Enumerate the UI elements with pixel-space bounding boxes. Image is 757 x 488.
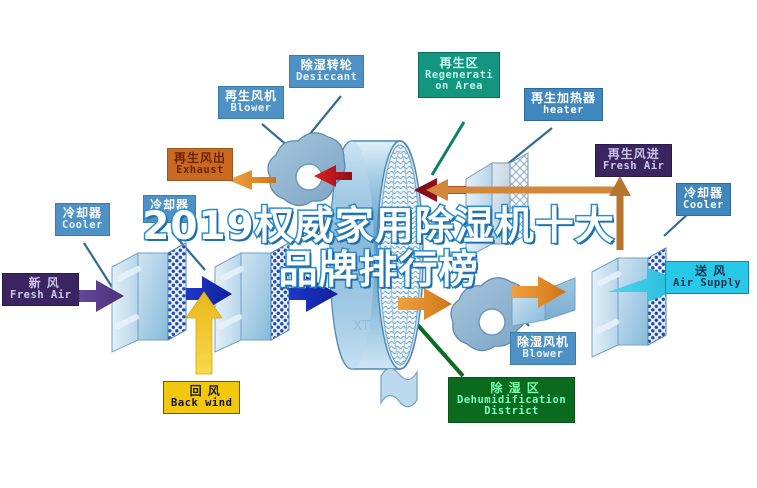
label-cooler-left-a-cn: 冷却器 <box>62 207 103 220</box>
rotor-watermark-text: XT <box>353 319 370 334</box>
label-back-wind[interactable]: 回 风 Back wind <box>163 381 240 414</box>
schematic-svg: XT <box>0 0 757 488</box>
label-exhaust[interactable]: 再生风出 Exhaust <box>167 148 233 181</box>
label-regeneration-heater-cn: 再生加热器 <box>531 92 596 105</box>
label-desiccant-rotor[interactable]: 除湿转轮 Desiccant <box>289 55 364 88</box>
label-dehumidification-blower-cn: 除湿风机 <box>517 336 569 349</box>
label-cooler-left-a[interactable]: 冷却器 Cooler <box>55 203 110 236</box>
label-regeneration-area-en2: on Area <box>425 81 493 92</box>
label-regeneration-fresh-air-in-en: Fresh Air <box>603 161 664 172</box>
leader-regen-area <box>432 122 464 175</box>
label-regeneration-area[interactable]: 再生区 Regenerati on Area <box>418 52 500 98</box>
label-regeneration-fresh-air-in[interactable]: 再生风进 Fresh Air <box>595 144 672 177</box>
label-cooler-left-a-en: Cooler <box>62 220 103 231</box>
label-dehumidification-district[interactable]: 除 湿 区 Dehumidification District <box>448 377 575 423</box>
label-back-wind-en: Back wind <box>171 398 232 409</box>
label-regeneration-area-cn: 再生区 <box>425 57 493 70</box>
label-dehumidification-blower[interactable]: 除湿风机 Blower <box>510 332 576 365</box>
label-fresh-air-in[interactable]: 新 风 Fresh Air <box>2 273 79 306</box>
label-cooler-left-b-cn: 冷却器 <box>150 199 189 212</box>
regeneration-heater-unit <box>466 153 528 258</box>
label-regeneration-blower-cn: 再生风机 <box>225 90 277 103</box>
label-desiccant-rotor-en: Desiccant <box>296 72 357 83</box>
label-desiccant-rotor-cn: 除湿转轮 <box>296 59 357 72</box>
desiccant-rotor-body: XT <box>330 141 423 407</box>
label-fresh-air-in-en: Fresh Air <box>10 290 71 301</box>
label-air-supply-cn: 送 风 <box>673 265 741 278</box>
label-dehumidification-blower-en: Blower <box>517 349 569 360</box>
label-exhaust-en: Exhaust <box>174 165 226 176</box>
label-cooler-left-b[interactable]: 冷却器 <box>143 195 196 223</box>
label-cooler-right-cn: 冷却器 <box>683 187 724 200</box>
label-air-supply[interactable]: 送 风 Air Supply <box>665 261 749 294</box>
label-cooler-right[interactable]: 冷却器 Cooler <box>676 183 731 216</box>
label-cooler-right-en: Cooler <box>683 200 724 211</box>
label-air-supply-en: Air Supply <box>673 278 741 289</box>
cooler-unit-left-1 <box>112 243 186 352</box>
cooler-unit-right <box>592 248 666 357</box>
label-regeneration-heater-en: heater <box>531 105 596 116</box>
label-fresh-air-in-cn: 新 风 <box>10 277 71 290</box>
leader-cooler-left-a <box>84 243 112 287</box>
label-dehumidification-district-en2: District <box>457 406 566 417</box>
label-regeneration-heater[interactable]: 再生加热器 heater <box>524 88 603 121</box>
label-exhaust-cn: 再生风出 <box>174 152 226 165</box>
label-regeneration-blower[interactable]: 再生风机 Blower <box>218 86 284 119</box>
label-back-wind-cn: 回 风 <box>171 385 232 398</box>
diagram-canvas: XT <box>0 0 757 488</box>
label-regeneration-fresh-air-in-cn: 再生风进 <box>603 148 664 161</box>
label-regeneration-blower-en: Blower <box>225 103 277 114</box>
label-dehumidification-district-cn: 除 湿 区 <box>457 382 566 395</box>
